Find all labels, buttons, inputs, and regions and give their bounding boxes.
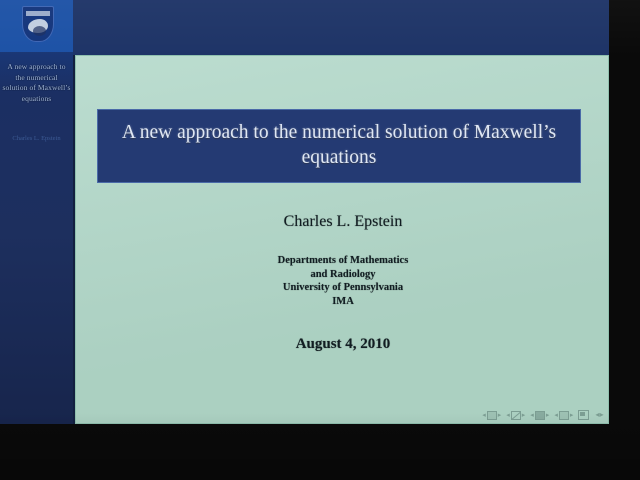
sidebar-item-5[interactable] xyxy=(0,248,73,258)
sidebar-item-9[interactable] xyxy=(0,312,73,322)
sidebar-item-8[interactable] xyxy=(0,296,73,306)
title-box: A new approach to the numerical solution… xyxy=(97,109,581,183)
chevron-right-icon[interactable]: ▸ xyxy=(522,410,526,420)
sidebar-section-list xyxy=(0,168,73,328)
beamer-navigation-bar[interactable]: ◂ ▸ ◂ ▸ ◂ ▸ ◂ ▸ xyxy=(482,410,604,420)
sidebar-item-0[interactable] xyxy=(0,168,73,178)
frame-nav-group[interactable]: ◂ ▸ xyxy=(506,410,525,420)
affiliation-block: Departments of Mathematics and Radiology… xyxy=(76,254,609,308)
page-title: A new approach to the numerical solution… xyxy=(110,120,568,170)
chevron-right-icon[interactable]: ▸ xyxy=(570,410,574,420)
chevron-right-icon[interactable]: ▸ xyxy=(546,410,550,420)
sidebar-title[interactable]: A new approach to the numerical solution… xyxy=(2,62,71,104)
frame-nav-icon[interactable] xyxy=(511,411,521,420)
sidebar-item-2[interactable] xyxy=(0,200,73,210)
presentation-date: August 4, 2010 xyxy=(76,336,609,353)
presentation-slide: A new approach to the numerical solution… xyxy=(0,0,609,424)
sidebar-item-6[interactable] xyxy=(0,264,73,274)
fullscreen-icon[interactable] xyxy=(578,410,589,420)
header-band xyxy=(73,0,609,55)
sidebar-item-7[interactable] xyxy=(0,280,73,290)
slide-nav-icon[interactable] xyxy=(487,411,497,420)
author-name: Charles L. Epstein xyxy=(76,213,609,231)
affiliation-line-1: Departments of Mathematics xyxy=(76,254,609,268)
section-nav-icon[interactable] xyxy=(559,411,569,420)
affiliation-line-4: IMA xyxy=(76,295,609,309)
chevron-left-icon[interactable]: ◂ xyxy=(506,410,510,420)
sidebar-item-4[interactable] xyxy=(0,232,73,242)
slide-counter[interactable]: ◂▸ xyxy=(595,410,604,420)
section-nav-group[interactable]: ◂ ▸ xyxy=(554,410,573,420)
slide-content: A new approach to the numerical solution… xyxy=(75,55,609,424)
chevron-left-icon[interactable]: ◂ xyxy=(482,410,486,420)
slide-nav-group[interactable]: ◂ ▸ xyxy=(482,410,501,420)
sidebar-item-1[interactable] xyxy=(0,184,73,194)
chevron-left-icon[interactable]: ◂ xyxy=(530,410,534,420)
upenn-crest-icon xyxy=(22,6,52,40)
subsection-nav-icon[interactable] xyxy=(535,411,545,420)
affiliation-line-2: and Radiology xyxy=(76,268,609,282)
sidebar-author[interactable]: Charles L. Epstein xyxy=(2,134,71,143)
affiliation-line-3: University of Pennsylvania xyxy=(76,281,609,295)
sidebar-logo-band xyxy=(0,0,73,52)
video-capture-frame: A new approach to the numerical solution… xyxy=(0,0,640,480)
subsection-nav-group[interactable]: ◂ ▸ xyxy=(530,410,549,420)
sidebar: A new approach to the numerical solution… xyxy=(0,0,73,424)
chevron-left-icon[interactable]: ◂ xyxy=(554,410,558,420)
chevron-right-icon[interactable]: ▸ xyxy=(498,410,502,420)
sidebar-item-3[interactable] xyxy=(0,216,73,226)
